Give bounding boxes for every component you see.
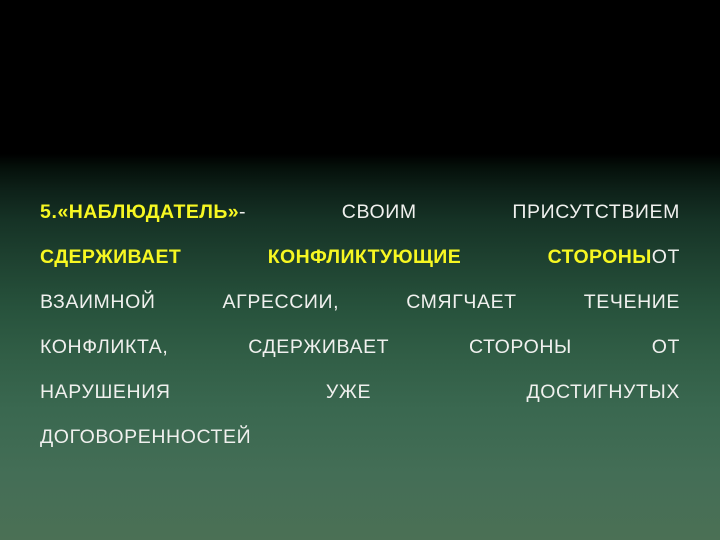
- text-line-3: ВЗАИМНОЙ АГРЕССИИ, СМЯГЧАЕТ ТЕЧЕНИЕ: [40, 280, 680, 325]
- slide-canvas: 5. «НАБЛЮДАТЕЛЬ» - СВОИМ ПРИСУТСТВИЕМ СД…: [0, 0, 720, 540]
- line-2-rest: ОТ: [652, 246, 680, 268]
- line-6-text: ДОГОВОРЕННОСТЕЙ: [40, 426, 251, 448]
- term-nablyudatel: «НАБЛЮДАТЕЛЬ»: [57, 201, 239, 223]
- item-number: 5.: [40, 201, 57, 223]
- highlight-phrase: СДЕРЖИВАЕТ КОНФЛИКТУЮЩИЕ СТОРОНЫ: [40, 246, 652, 268]
- slide-body-text: 5. «НАБЛЮДАТЕЛЬ» - СВОИМ ПРИСУТСТВИЕМ СД…: [40, 190, 680, 460]
- line-3-text: ВЗАИМНОЙ АГРЕССИИ, СМЯГЧАЕТ ТЕЧЕНИЕ: [40, 291, 680, 313]
- line-5-text: НАРУШЕНИЯ УЖЕ ДОСТИГНУТЫХ: [40, 381, 680, 403]
- line-4-text: КОНФЛИКТА, СДЕРЖИВАЕТ СТОРОНЫ ОТ: [40, 336, 680, 358]
- text-line-2: СДЕРЖИВАЕТ КОНФЛИКТУЮЩИЕ СТОРОНЫ ОТ: [40, 235, 680, 280]
- text-line-1: 5. «НАБЛЮДАТЕЛЬ» - СВОИМ ПРИСУТСТВИЕМ: [40, 190, 680, 235]
- text-line-4: КОНФЛИКТА, СДЕРЖИВАЕТ СТОРОНЫ ОТ: [40, 325, 680, 370]
- text-line-6: ДОГОВОРЕННОСТЕЙ: [40, 415, 680, 460]
- line-1-rest: - СВОИМ ПРИСУТСТВИЕМ: [239, 201, 680, 223]
- text-line-5: НАРУШЕНИЯ УЖЕ ДОСТИГНУТЫХ: [40, 370, 680, 415]
